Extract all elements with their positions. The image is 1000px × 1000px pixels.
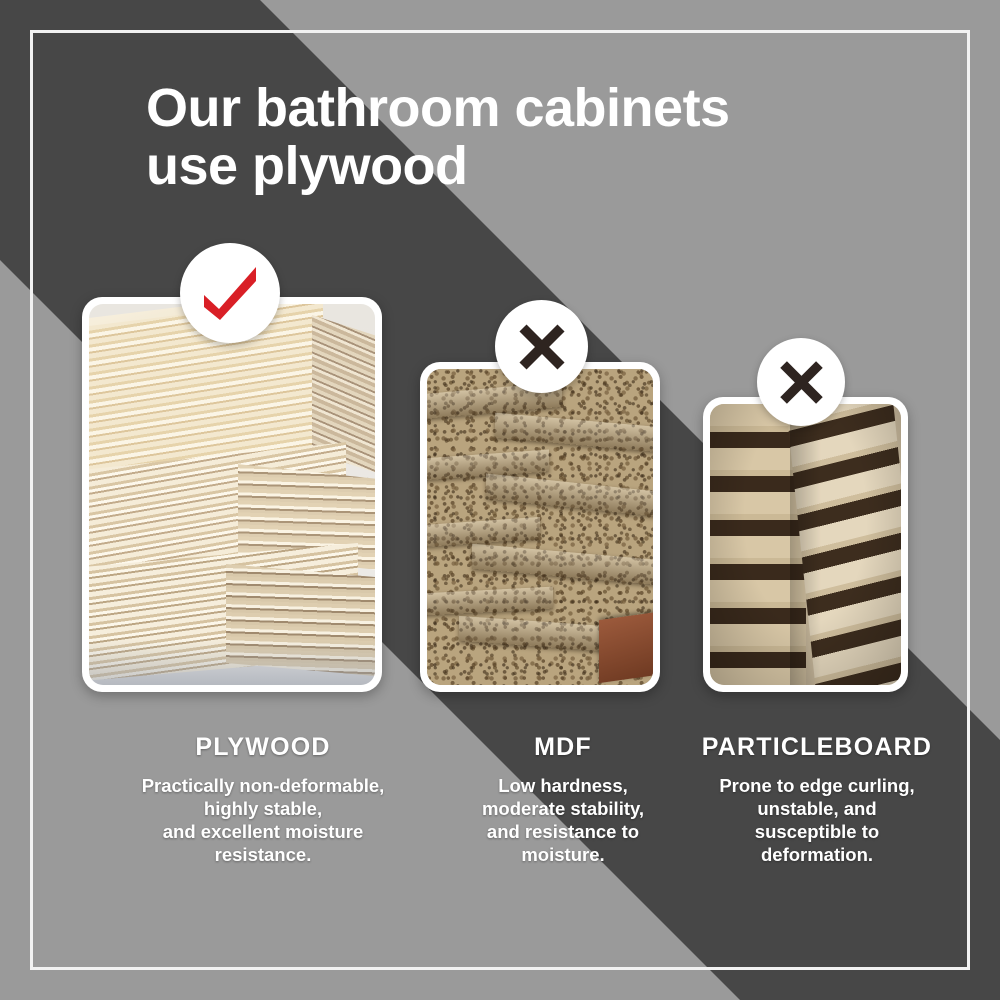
plywood-scene [89,304,375,685]
caption-particleboard: PARTICLEBOARD Prone to edge curling, uns… [672,733,962,867]
mdf-photo [427,369,653,685]
check-mark-icon [199,265,261,321]
material-card-particleboard[interactable] [703,397,908,692]
desc-line: Low hardness, [438,774,688,797]
chipboard-red-panel [599,611,653,682]
desc-line: Prone to edge curling, [672,774,962,797]
mdf-vignette [710,404,901,685]
chipboard-scene [427,369,653,685]
caption-plywood: PLYWOOD Practically non-deformable, high… [58,733,468,867]
desc-line: unstable, and [672,797,962,820]
particleboard-photo [710,404,901,685]
caption-description-mdf: Low hardness, moderate stability, and re… [438,774,688,867]
material-card-mdf[interactable] [420,362,660,692]
desc-line: and excellent moisture [58,820,468,843]
caption-mdf: MDF Low hardness, moderate stability, an… [438,733,688,867]
desc-line: resistance. [58,843,468,866]
cross-mark-icon [516,321,568,373]
material-card-plywood[interactable] [82,297,382,692]
cross-mark-badge-particleboard [757,338,845,426]
desc-line: and resistance to [438,820,688,843]
mdf-board-scene [710,404,901,685]
caption-description-particleboard: Prone to edge curling, unstable, and sus… [672,774,962,867]
caption-title-plywood: PLYWOOD [58,733,468,762]
desc-line: Practically non-deformable, [58,774,468,797]
caption-title-particleboard: PARTICLEBOARD [672,733,962,762]
desc-line: moderate stability, [438,797,688,820]
caption-title-mdf: MDF [438,733,688,762]
caption-description-plywood: Practically non-deformable, highly stabl… [58,774,468,867]
desc-line: highly stable, [58,797,468,820]
poster-root: Our bathroom cabinets use plywood [0,0,1000,1000]
plywood-photo [89,304,375,685]
check-mark-badge [180,243,280,343]
desc-line: moisture. [438,843,688,866]
cross-mark-icon [777,358,826,407]
desc-line: susceptible to [672,820,962,843]
desc-line: deformation. [672,843,962,866]
plywood-ground-shadow [89,639,375,685]
cross-mark-badge-mdf [495,300,588,393]
